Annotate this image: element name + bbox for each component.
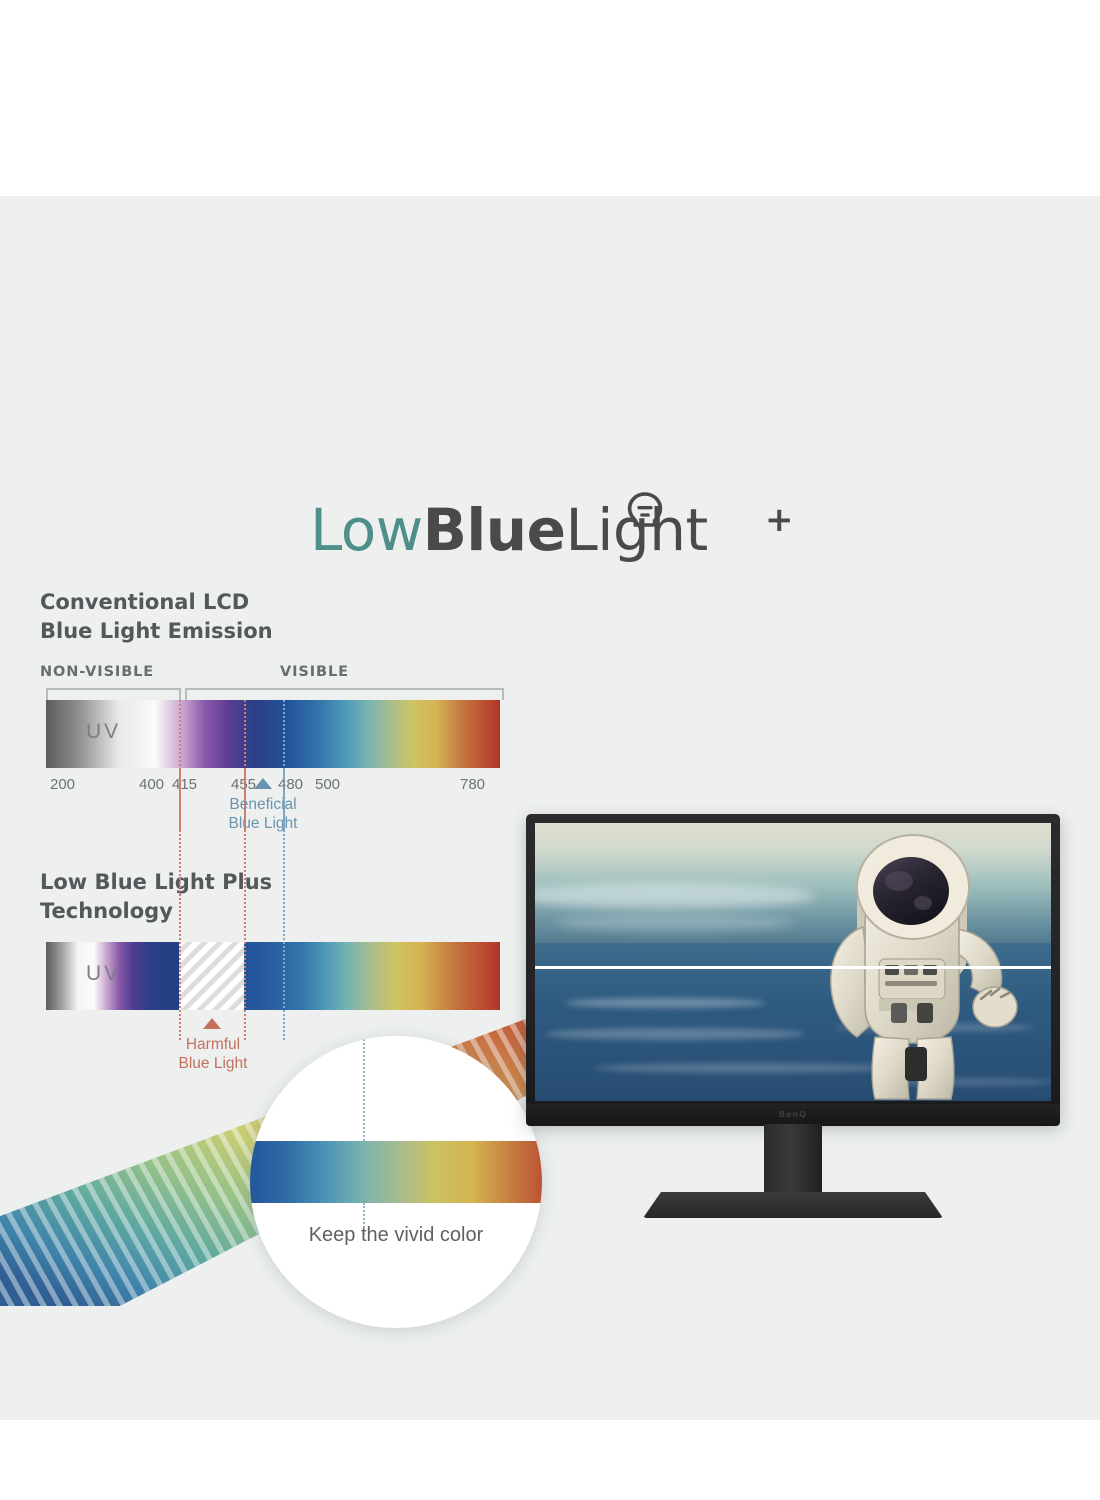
magnified-spectrum-bar	[250, 1141, 542, 1203]
beneficial-label-line1: Beneficial	[229, 796, 296, 813]
monitor-stand-base	[643, 1192, 943, 1218]
beneficial-marker-triangle	[254, 778, 272, 789]
logo-word-blue: Blue	[423, 496, 566, 564]
tick-415: 415	[172, 776, 197, 793]
monitor-screen	[535, 823, 1051, 1101]
screen-divider-line	[535, 966, 1051, 969]
band-label-visible: VISIBLE	[280, 664, 349, 680]
monitor-stand-neck	[764, 1124, 822, 1196]
cloud-streak	[555, 915, 795, 931]
lightbulb-icon	[626, 492, 664, 538]
bracket-non-visible	[46, 688, 181, 700]
band-label-non-visible: NON-VISIBLE	[40, 664, 154, 680]
infographic-root: LowBlueLight + Conventional LCD Blue Lig…	[0, 0, 1100, 1500]
wave-streak	[545, 1028, 805, 1040]
magnifier-caption: Keep the vivid color	[250, 1224, 542, 1247]
logo-plus-superscript: +	[765, 500, 794, 540]
tick-200: 200	[50, 776, 75, 793]
beneficial-blue-light-label: Beneficial Blue Light	[208, 796, 318, 834]
logo-word-low: Low	[310, 496, 423, 564]
monitor-product-image: BenQ	[526, 814, 1060, 1224]
content-panel: LowBlueLight + Conventional LCD Blue Lig…	[0, 196, 1100, 1420]
uv-label-conventional: UV	[86, 720, 121, 744]
chart1-title-line2: Blue Light Emission	[40, 619, 273, 643]
low-blue-light-logo: LowBlueLight +	[310, 496, 790, 596]
benq-brand-logo: BenQ	[763, 1110, 823, 1120]
logo-word-li: Li	[565, 496, 612, 564]
bracket-visible	[185, 688, 504, 700]
tick-400: 400	[139, 776, 164, 793]
tick-500: 500	[315, 776, 340, 793]
tick-780: 780	[460, 776, 485, 793]
beneficial-label-line2: Blue Light	[229, 815, 298, 832]
magnifier-guide-top	[363, 1036, 365, 1141]
chart1-title: Conventional LCD Blue Light Emission	[40, 588, 370, 646]
wave-streak	[565, 998, 765, 1008]
monitor-bezel	[526, 814, 1060, 1124]
chart-conventional-lcd: Conventional LCD Blue Light Emission NON…	[40, 588, 510, 868]
tick-480: 480	[278, 776, 303, 793]
chart1-title-line1: Conventional LCD	[40, 590, 249, 614]
magnifier-circle: Keep the vivid color	[250, 1036, 542, 1328]
